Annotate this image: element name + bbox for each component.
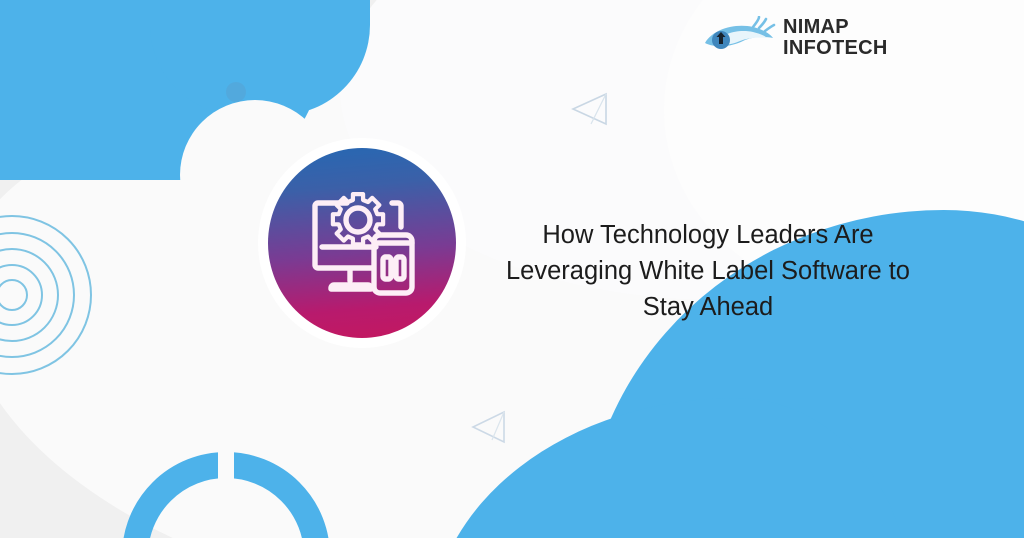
brand-name-line-2: INFOTECH xyxy=(783,38,888,59)
desktop-gear-mobile-icon xyxy=(300,181,424,305)
feature-icon-badge xyxy=(268,148,456,338)
brand-name-line-1: NIMAP xyxy=(783,17,888,38)
eye-with-lashes-icon xyxy=(701,16,779,60)
page-title-line-2: Leveraging White Label Software to xyxy=(506,257,910,285)
blog-banner: NIMAP INFOTECH xyxy=(0,0,1024,538)
brand-logo[interactable]: NIMAP INFOTECH xyxy=(697,8,897,68)
page-title-line-3: Stay Ahead xyxy=(643,293,773,321)
page-title: How Technology Leaders Are Leveraging Wh… xyxy=(478,217,938,325)
brand-logo-text: NIMAP INFOTECH xyxy=(783,17,888,59)
page-title-line-1: How Technology Leaders Are xyxy=(542,221,873,249)
